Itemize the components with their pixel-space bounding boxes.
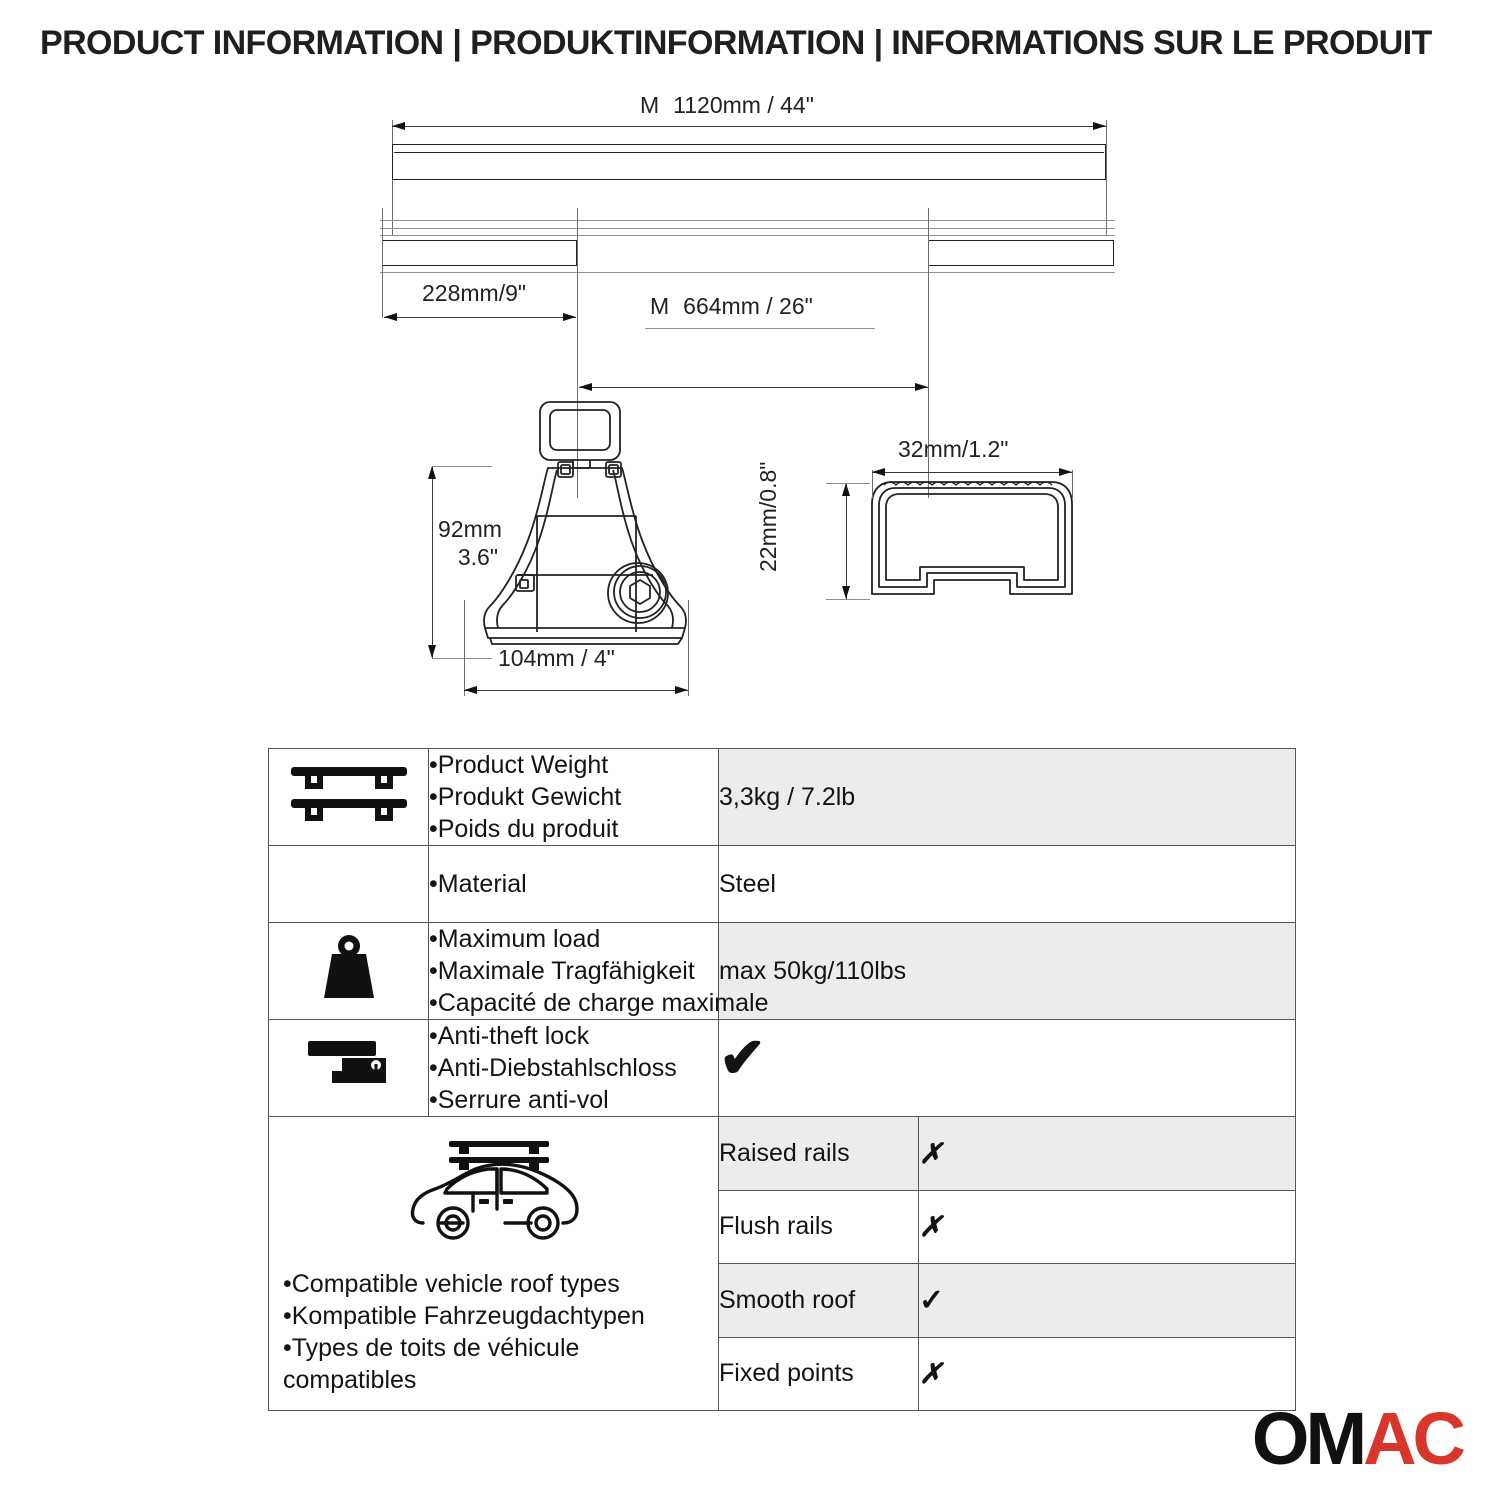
anti-theft-checkmark: ✔	[719, 1026, 766, 1089]
anti-theft-value: ✔	[719, 1020, 1296, 1117]
lock-icon	[306, 1037, 392, 1093]
profile-height-arrow	[846, 483, 847, 599]
anti-theft-icon-cell	[269, 1020, 429, 1117]
weight-icon	[318, 934, 380, 1002]
page-title: PRODUCT INFORMATION | PRODUKTINFORMATION…	[40, 24, 1432, 63]
product-weight-label-en: •Product Weight	[429, 749, 718, 781]
compatibility-label-cell: •Compatible vehicle roof types •Kompatib…	[269, 1117, 719, 1411]
logo-text-red: AC	[1363, 1397, 1462, 1480]
foot-offset-arrow	[384, 317, 576, 318]
roof-type-name-fixed-points: Fixed points	[719, 1337, 919, 1411]
max-load-value: max 50kg/110lbs	[719, 923, 1296, 1020]
max-load-label-de: •Maximale Tragfähigkeit	[429, 955, 718, 987]
roof-type-name-smooth-roof: Smooth roof	[719, 1264, 919, 1338]
compat-label-de: •Kompatible Fahrzeugdachtypen	[283, 1300, 708, 1332]
bar-spread-underline	[645, 328, 875, 329]
product-weight-label-cell: •Product Weight •Produkt Gewicht •Poids …	[429, 749, 719, 846]
roof-type-mark-smooth-roof: ✓	[919, 1264, 1296, 1338]
compat-label-en: •Compatible vehicle roof types	[283, 1268, 708, 1300]
crossbar-top-view	[392, 144, 1106, 180]
product-weight-icon-cell	[269, 749, 429, 846]
cross-icon: ✗	[919, 1211, 942, 1242]
bar-length-value: 1120mm / 44"	[673, 92, 814, 118]
bar-length-prefix: M	[640, 92, 659, 118]
foot-offset-dimension-label: 228mm/9"	[422, 280, 526, 307]
bar-length-arrow	[392, 126, 1106, 127]
profile-height-ext-top	[826, 483, 870, 484]
profile-height-value: 22mm/0.8"	[755, 462, 782, 572]
foot-height-value-in: 3.6"	[438, 543, 498, 571]
roof-type-mark-fixed-points: ✗	[919, 1337, 1296, 1411]
specification-table: •Product Weight •Produkt Gewicht •Poids …	[268, 748, 1296, 1411]
foot-height-value-mm: 92mm	[438, 515, 498, 543]
cross-icon: ✗	[919, 1138, 942, 1169]
foot-block-right	[928, 240, 1114, 266]
material-icon-cell	[269, 846, 429, 923]
projection-line-origin	[382, 208, 383, 318]
anti-theft-label-de: •Anti-Diebstahlschloss	[429, 1052, 718, 1084]
bar-side-outline-top	[380, 220, 1115, 221]
car-with-rack-icon	[401, 1131, 591, 1251]
foot-height-ext-bottom	[432, 658, 492, 659]
foot-height-ext-top	[432, 466, 492, 467]
compat-label-fr: •Types de toits de véhicule compatibles	[283, 1332, 708, 1396]
foot-width-ext-right	[688, 600, 689, 696]
max-load-label-fr: •Capacité de charge maximale	[429, 987, 718, 1019]
product-weight-label-de: •Produkt Gewicht	[429, 781, 718, 813]
bar-side-line-b	[380, 235, 1115, 236]
crossbar-top-inner-line	[394, 152, 1104, 153]
anti-theft-label-en: •Anti-theft lock	[429, 1020, 718, 1052]
bar-spread-prefix: M	[650, 293, 669, 319]
bar-length-dimension-label: M1120mm / 44"	[640, 92, 814, 119]
extension-line-right-top	[1106, 120, 1107, 235]
table-row: •Material Steel	[269, 846, 1296, 923]
material-label-cell: •Material	[429, 846, 719, 923]
technical-drawing-area: M1120mm / 44" 228mm/9" M664mm / 26"	[0, 80, 1500, 740]
profile-width-dimension-label: 32mm/1.2"	[898, 436, 1008, 463]
bar-side-outline-bottom	[380, 272, 1115, 273]
foot-offset-value: 228mm/9"	[422, 280, 526, 306]
check-icon: ✓	[919, 1284, 944, 1317]
bar-spread-value: 664mm / 26"	[683, 293, 813, 319]
omac-logo: OMAC	[1252, 1402, 1462, 1476]
foot-width-dimension-label: 104mm / 4"	[498, 645, 615, 672]
profile-width-ext-right	[1072, 470, 1073, 498]
bar-side-line-a	[380, 228, 1115, 229]
product-weight-value: 3,3kg / 7.2lb	[719, 749, 1296, 846]
anti-theft-label-cell: •Anti-theft lock •Anti-Diebstahlschloss …	[429, 1020, 719, 1117]
max-load-label-en: •Maximum load	[429, 923, 718, 955]
roof-type-name-flush-rails: Flush rails	[719, 1190, 919, 1264]
anti-theft-label-fr: •Serrure anti-vol	[429, 1084, 718, 1116]
foot-width-value: 104mm / 4"	[498, 645, 615, 671]
table-row: •Compatible vehicle roof types •Kompatib…	[269, 1117, 1296, 1191]
material-value: Steel	[719, 846, 1296, 923]
product-information-sheet: PRODUCT INFORMATION | PRODUKTINFORMATION…	[0, 0, 1500, 1500]
foot-width-ext-left	[464, 600, 465, 696]
table-row: •Product Weight •Produkt Gewicht •Poids …	[269, 749, 1296, 846]
foot-block-left	[382, 240, 577, 266]
bar-spread-dimension-label: M664mm / 26"	[650, 293, 813, 320]
roof-type-mark-flush-rails: ✗	[919, 1190, 1296, 1264]
table-row: •Anti-theft lock •Anti-Diebstahlschloss …	[269, 1020, 1296, 1117]
bar-spread-arrow	[579, 387, 928, 388]
cross-icon: ✗	[919, 1358, 942, 1389]
profile-height-ext-bottom	[826, 599, 870, 600]
logo-text-black: OM	[1252, 1397, 1363, 1480]
roof-type-mark-raised-rails: ✗	[919, 1117, 1296, 1191]
product-weight-label-fr: •Poids du produit	[429, 813, 718, 845]
max-load-icon-cell	[269, 923, 429, 1020]
roof-type-name-raised-rails: Raised rails	[719, 1117, 919, 1191]
crossbars-icon	[289, 763, 409, 825]
material-label-en: •Material	[429, 868, 718, 900]
foot-height-arrow	[432, 466, 433, 658]
max-load-label-cell: •Maximum load •Maximale Tragfähigkeit •C…	[429, 923, 719, 1020]
foot-height-dimension-label: 92mm 3.6"	[438, 515, 498, 571]
profile-width-value: 32mm/1.2"	[898, 436, 1008, 462]
car-icon-wrap	[283, 1131, 708, 1258]
foot-width-arrow	[464, 690, 688, 691]
table-row: •Maximum load •Maximale Tragfähigkeit •C…	[269, 923, 1296, 1020]
profile-height-dimension-label: 22mm/0.8"	[795, 472, 925, 602]
